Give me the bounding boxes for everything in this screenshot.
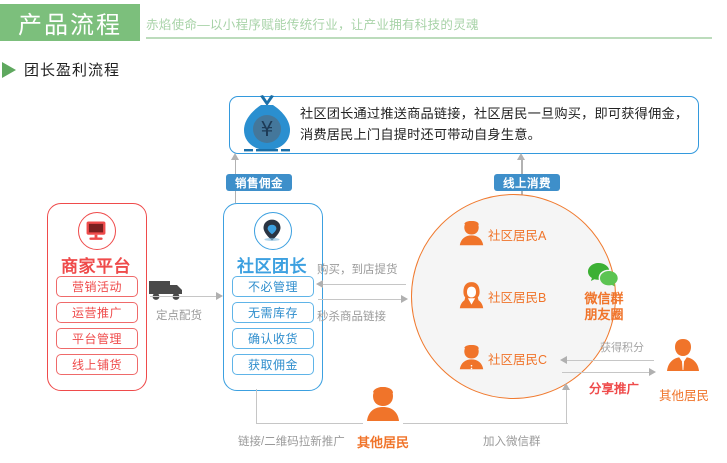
delivery-label: 定点配货 [142, 307, 216, 323]
community-leader-title: 社区团长 [223, 252, 321, 277]
person-icon [458, 343, 485, 374]
purchase-pickup-label: 购买，到店提货 [317, 261, 398, 277]
arrow-sales-to-callout [235, 159, 237, 175]
earn-points-arrow-line [566, 360, 654, 361]
resident-label-b: 社区居民B [488, 287, 546, 306]
wechat-icon [587, 262, 619, 288]
merchant-item-0[interactable]: 营销活动 [56, 276, 138, 297]
earn-points-arrow-head-icon [560, 356, 567, 364]
seckill-arrow-line [318, 299, 402, 300]
leader-item-3[interactable]: 获取佣金 [232, 354, 314, 375]
merchant-item-2[interactable]: 平台管理 [56, 328, 138, 349]
leader-bottom-connector-horizontal [256, 423, 363, 424]
page-title: 产品流程 [18, 5, 122, 40]
resident-label-c: 社区居民C [488, 349, 547, 368]
other-residents-bottom-label: 其他居民 [352, 432, 414, 451]
resident-label-a: 社区居民A [488, 225, 546, 244]
delivery-arrow-icon [216, 292, 223, 300]
truck-icon [148, 278, 190, 302]
purchase-arrow-line [322, 284, 406, 285]
merchant-item-3[interactable]: 线上铺货 [56, 354, 138, 375]
leader-item-2[interactable]: 确认收货 [232, 328, 314, 349]
seckill-link-label: 秒杀商品链接 [317, 308, 386, 324]
purchase-arrow-head-icon [316, 280, 323, 288]
arrow-sales-to-callout-head [231, 153, 239, 160]
wechat-group-line2: 朋友圈 [567, 307, 641, 323]
person-suit-icon [663, 337, 703, 381]
location-pin-icon [254, 212, 292, 250]
seckill-arrow-head-icon [401, 295, 408, 303]
resident-row-b: 社区居民B [458, 281, 546, 312]
svg-text:¥: ¥ [261, 117, 274, 141]
section-title: 团长盈利流程 [24, 59, 120, 80]
resident-row-a: 社区居民A [458, 219, 546, 250]
promo-link-label: 链接/二维码拉新推广 [238, 433, 345, 449]
share-promo-arrow-line [562, 372, 650, 373]
page-subtitle: 赤焰使命—以小程序赋能传统行业，让产业拥有科技的灵魂 [146, 14, 479, 33]
money-bag-icon: ¥ [232, 92, 302, 158]
join-wechat-arrow-head-icon [562, 383, 570, 390]
merchant-item-1[interactable]: 运营推广 [56, 302, 138, 323]
join-wechat-label: 加入微信群 [483, 433, 541, 449]
section-marker-icon [2, 62, 16, 78]
leader-bottom-connector-vertical [256, 389, 257, 424]
join-wechat-connector-vertical [566, 390, 567, 424]
join-wechat-connector-horizontal [403, 423, 568, 424]
wechat-group-line1: 微信群 [567, 291, 641, 307]
person-icon [363, 385, 403, 429]
other-residents-right-label: 其他居民 [655, 385, 713, 404]
badge-online-consumption[interactable]: 线上消费 [494, 174, 560, 191]
header-divider [146, 37, 712, 39]
page-title-chip: 产品流程 [0, 4, 140, 41]
leader-item-1[interactable]: 无需库存 [232, 302, 314, 323]
arrow-online-to-callout-head [517, 153, 525, 160]
badge-sales-stem [235, 191, 237, 203]
wechat-group-label: 微信群 朋友圈 [567, 291, 641, 323]
merchant-platform-title: 商家平台 [47, 252, 145, 277]
arrow-online-to-callout [521, 159, 523, 175]
share-promo-arrow-head-icon [649, 368, 656, 376]
leader-item-0[interactable]: 不必管理 [232, 276, 314, 297]
earn-points-label: 获得积分 [600, 339, 644, 355]
badge-sales-commission[interactable]: 销售佣金 [226, 174, 292, 191]
delivery-connector [150, 296, 218, 297]
person-female-icon [458, 281, 485, 312]
resident-row-c: 社区居民C [458, 343, 547, 374]
share-promo-label: 分享推广 [589, 378, 639, 397]
person-icon [458, 219, 485, 250]
monitor-icon [78, 212, 116, 250]
callout-text: 社区团长通过推送商品链接，社区居民一旦购买，即可获得佣金，消费居民上门自提时还可… [300, 103, 692, 145]
